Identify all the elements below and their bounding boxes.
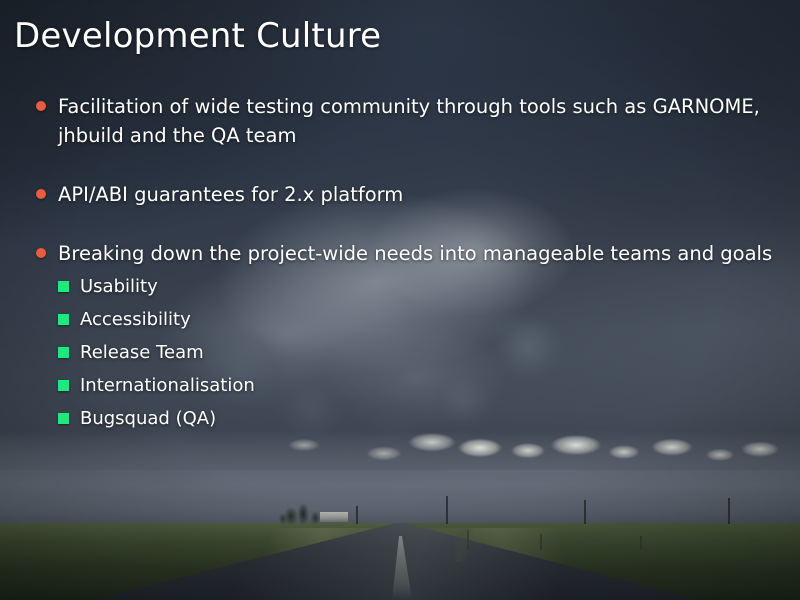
sub-bullet-square-icon [58, 413, 69, 424]
sub-bullet-text: Internationalisation [80, 375, 255, 396]
slide-title: Development Culture [14, 16, 381, 56]
sub-bullet-square-icon [58, 281, 69, 292]
bullet-item: Facilitation of wide testing community t… [36, 92, 784, 150]
bullet-dot-icon [36, 248, 46, 258]
bullet-dot-icon [36, 189, 46, 199]
sub-bullet-text: Usability [80, 276, 158, 297]
slide-content: Development Culture Facilitation of wide… [0, 0, 800, 600]
sub-bullet-item: Bugsquad (QA) [58, 402, 784, 435]
sub-bullet-item: Usability [58, 270, 784, 303]
bullet-dot-icon [36, 101, 46, 111]
bullet-item: Breaking down the project-wide needs int… [36, 239, 784, 435]
sub-bullet-text: Release Team [80, 342, 204, 363]
sub-bullet-text: Accessibility [80, 309, 191, 330]
sub-bullet-square-icon [58, 314, 69, 325]
sub-bullet-item: Accessibility [58, 303, 784, 336]
bullet-text: Breaking down the project-wide needs int… [58, 239, 784, 268]
sub-bullet-square-icon [58, 380, 69, 391]
sub-bullet-list: Usability Accessibility Release Team Int… [58, 270, 784, 435]
bullet-item: API/ABI guarantees for 2.x platform [36, 180, 784, 209]
bullet-text: Facilitation of wide testing community t… [58, 92, 784, 150]
slide-bullet-list: Facilitation of wide testing community t… [36, 92, 784, 435]
sub-bullet-item: Internationalisation [58, 369, 784, 402]
sub-bullet-text: Bugsquad (QA) [80, 408, 216, 429]
presentation-slide: Development Culture Facilitation of wide… [0, 0, 800, 600]
bullet-text: API/ABI guarantees for 2.x platform [58, 180, 784, 209]
sub-bullet-item: Release Team [58, 336, 784, 369]
sub-bullet-square-icon [58, 347, 69, 358]
